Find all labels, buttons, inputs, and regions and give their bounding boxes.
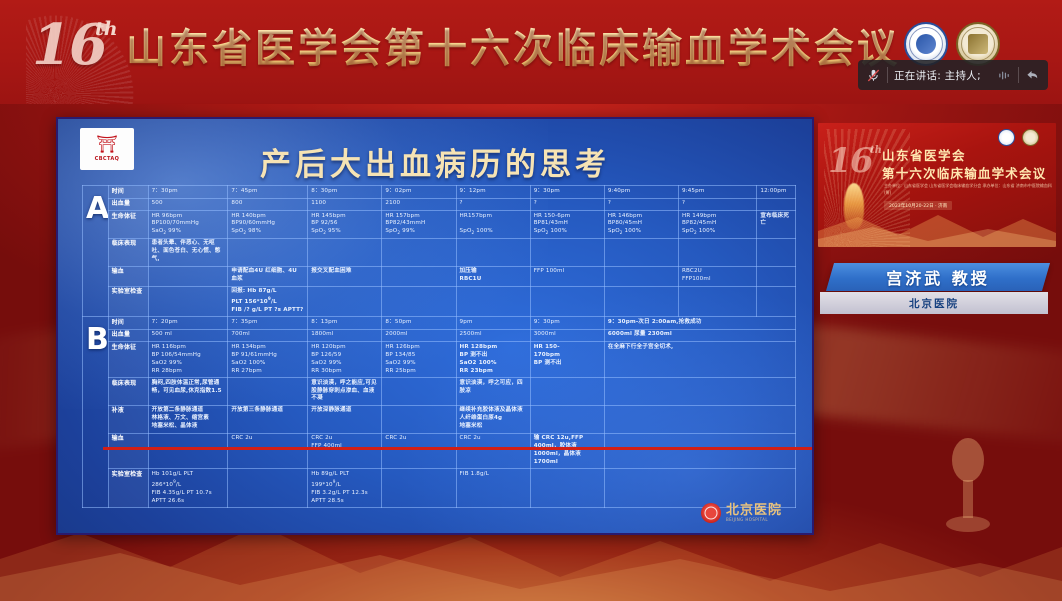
table-cell — [757, 266, 796, 286]
table-cell: 2500ml — [456, 329, 530, 342]
row-label: 输血 — [108, 433, 148, 469]
row-label: 实验室检查 — [108, 286, 148, 317]
table-cell: CRC 2u — [382, 433, 456, 469]
table-row: 实验室检查Hb 101g/L PLT 286*109/LFIB 4.35g/L … — [83, 469, 796, 508]
case-timeline-table-wrapper: A时间7：30pm7：45pm8：30pm9：02pm9：12pm9：30pm9… — [82, 185, 796, 525]
table-cell: HR 146bpmBP80/45mHSpO2 100% — [604, 211, 678, 239]
poster-edition-suffix: th — [870, 145, 882, 156]
speaker-organization: 北京医院 — [820, 292, 1048, 314]
table-row: 实验室检查回报: Hb 87g/LPLT 156*109/LFIB /? g/L… — [83, 286, 796, 317]
row-label: 输血 — [108, 266, 148, 286]
table-cell: 意识淡漠，呼之可应，四肢凉 — [456, 378, 530, 406]
table-cell — [604, 469, 795, 508]
table-cell: 胸闷,四肢体温正常,尿管通畅，可见血尿,休克指数1.5 — [148, 378, 228, 406]
table-cell: HR 126bpmBP 134/85SaO2 99%RR 25bpm — [382, 342, 456, 378]
row-label: 时间 — [108, 317, 148, 330]
poster-title-line1: 山东省医学会 — [882, 145, 966, 164]
table-cell: 500 ml — [148, 329, 228, 342]
pill-divider-2 — [1018, 67, 1019, 83]
table-cell: 宣布临床死亡 — [757, 211, 796, 239]
sound-wave-icon — [997, 69, 1012, 82]
trophy-decoration — [938, 430, 998, 545]
table-cell: 9:45pm — [678, 186, 756, 199]
table-cell — [382, 469, 456, 508]
presentation-slide[interactable]: ⛩ CBCTAQ 产后大出血病历的思考 A时间7：30pm7：45pm8：30p… — [56, 117, 814, 535]
table-cell: Hb 101g/L PLT 286*109/LFIB 4.35g/L PT 10… — [148, 469, 228, 508]
speaking-status-text: 正在讲话: 主持人; — [894, 68, 991, 83]
table-cell: 8：50pm — [382, 317, 456, 330]
table-cell: 申请配血4U 红细胞、4U 血浆 — [228, 266, 308, 286]
table-cell — [757, 286, 796, 317]
table-cell: FIB 1.8g/L — [456, 469, 530, 508]
table-cell: 开放第三条静脉通道 — [228, 405, 308, 433]
conference-title: 山东省医学会第十六次临床输血学术会议 — [126, 16, 900, 74]
table-cell: HR 150-6pmBP81/43mHSpO2 100% — [530, 211, 604, 239]
table-cell: ? — [530, 198, 604, 211]
poster-emblem-left-icon — [998, 129, 1015, 146]
table-cell — [604, 405, 795, 433]
table-cell — [530, 405, 604, 433]
pill-divider-1 — [887, 67, 888, 83]
table-cell: RBC2UFFP100ml — [678, 266, 756, 286]
table-cell — [604, 378, 795, 406]
table-cell — [228, 469, 308, 508]
table-cell: HR157bpmSpO2 100% — [456, 211, 530, 239]
active-speaker-status-bar[interactable]: 正在讲话: 主持人; — [858, 60, 1048, 90]
row-label: 临床表现 — [108, 378, 148, 406]
table-cell: HR 128bpmBP 测不出SaO2 100%RR 23bpm — [456, 342, 530, 378]
table-row: 出血量500 ml700ml1800ml2000ml2500ml3000ml60… — [83, 329, 796, 342]
section-label-a: A — [83, 186, 109, 317]
table-cell: 6000ml 尿量 2300ml — [604, 329, 795, 342]
poster-meta-text: 主办单位：山东省医学会 山东省医学会临床输血学分会 承办单位：山东省 济南市中医… — [884, 183, 1056, 197]
table-row: A时间7：30pm7：45pm8：30pm9：02pm9：12pm9：30pm9… — [83, 186, 796, 199]
slide-footer-en: BEIJING HOSPITAL — [726, 518, 782, 522]
edition-suffix: th — [95, 18, 118, 40]
table-cell — [678, 238, 756, 266]
table-cell — [604, 238, 678, 266]
table-cell: 7：35pm — [228, 317, 308, 330]
table-cell: 在全麻下行全子宫全切术, — [604, 342, 795, 378]
table-cell: HR 145bpmBP 92/56SpO2 95% — [308, 211, 382, 239]
slide-footer-cn: 北京医院 — [726, 504, 782, 518]
table-cell: 1800ml — [308, 329, 382, 342]
row-label: 补液 — [108, 405, 148, 433]
row-label: 生命体征 — [108, 342, 148, 378]
table-cell: HR 134bpmBP 91/61mmHgSaO2 100%RR 27bpm — [228, 342, 308, 378]
conference-stage-background: 16 th 山东省医学会第十六次临床输血学术会议 正在讲话: 主持人; — [0, 0, 1062, 601]
table-row: 生命体征HR 96bpmBP100/70mmHgSaO2 99%HR 140bp… — [83, 211, 796, 239]
table-cell — [678, 286, 756, 317]
table-cell: 回报: Hb 87g/LPLT 156*109/LFIB /? g/L PT ?… — [228, 286, 308, 317]
table-cell — [604, 286, 678, 317]
table-cell: 继续补充胶体液及晶体液人纤维蛋白原4g地塞米松 — [456, 405, 530, 433]
slide-title: 产后大出血病历的思考 — [58, 139, 812, 184]
table-cell: 开放第二条静脉通道林格液、万文、缩宫素地塞米松、晶体液 — [148, 405, 228, 433]
table-row: 临床表现患者头晕、伴恶心、无呕吐、面色苍白、无心慌、憋气, — [83, 238, 796, 266]
table-cell — [228, 238, 308, 266]
table-cell: 3000ml — [530, 329, 604, 342]
poster-edition-number: 16 — [828, 141, 872, 181]
table-cell — [148, 286, 228, 317]
table-cell: HR 120bpmBP 126/59SaO2 99%RR 30bpm — [308, 342, 382, 378]
table-cell — [148, 266, 228, 286]
poster-emblem-right-icon — [1022, 129, 1039, 146]
table-cell: 7：45pm — [228, 186, 308, 199]
table-cell: 9：30pm — [530, 186, 604, 199]
table-cell: 9：02pm — [382, 186, 456, 199]
speaker-name-banner: 宫济武 教授 — [826, 263, 1050, 291]
table-cell — [382, 405, 456, 433]
poster-mountain-silhouette — [818, 201, 1056, 247]
table-row: 补液开放第二条静脉通道林格液、万文、缩宫素地塞米松、晶体液开放第三条静脉通道开放… — [83, 405, 796, 433]
table-cell: 意识淡漠，呼之能应,可见股静脉穿刺点渗血、血液不凝 — [308, 378, 382, 406]
table-cell: HR 157bpmBP82/43mmHSpO2 99% — [382, 211, 456, 239]
table-cell: HR 116bpmBP 106/54mmHgSaO2 99%RR 28bpm — [148, 342, 228, 378]
table-cell: 患者头晕、伴恶心、无呕吐、面色苍白、无心慌、憋气, — [148, 238, 228, 266]
table-cell — [456, 286, 530, 317]
screen-share-icon[interactable] — [1025, 69, 1040, 82]
table-cell: 800 — [228, 198, 308, 211]
table-cell — [382, 266, 456, 286]
table-cell: 12:00pm — [757, 186, 796, 199]
section-label-b: B — [83, 317, 109, 508]
table-cell: 700ml — [228, 329, 308, 342]
table-cell: 8：13pm — [308, 317, 382, 330]
row-label: 生命体征 — [108, 211, 148, 239]
table-cell — [530, 238, 604, 266]
table-cell — [757, 238, 796, 266]
table-row: 输血CRC 2uCRC 2uFFP 400mlCRC 2uCRC 2u输 CRC… — [83, 433, 796, 469]
table-cell: FFP 100ml — [530, 266, 604, 286]
table-cell: HR 150-170bpmBP 测不出 — [530, 342, 604, 378]
table-cell — [308, 286, 382, 317]
table-cell — [382, 378, 456, 406]
table-cell — [530, 378, 604, 406]
table-cell — [530, 469, 604, 508]
table-cell — [530, 286, 604, 317]
table-cell: 9:40pm — [604, 186, 678, 199]
table-cell: HR 140bpmBP90/60mmHgSpO2 98% — [228, 211, 308, 239]
table-cell: 7：20pm — [148, 317, 228, 330]
table-cell: 9pm — [456, 317, 530, 330]
table-cell — [757, 198, 796, 211]
beijing-hospital-logo-icon — [701, 503, 721, 523]
speaker-name: 宫济武 教授 — [830, 263, 1046, 291]
table-cell — [604, 266, 678, 286]
red-annotation-line — [103, 447, 814, 450]
table-row: 生命体征HR 116bpmBP 106/54mmHgSaO2 99%RR 28b… — [83, 342, 796, 378]
table-cell: CRC 2u — [228, 433, 308, 469]
case-timeline-table: A时间7：30pm7：45pm8：30pm9：02pm9：12pm9：30pm9… — [82, 185, 796, 508]
table-cell: 2100 — [382, 198, 456, 211]
table-cell: Hb 89g/L PLT 199*109/LFIB 3.2g/L PT 12.3… — [308, 469, 382, 508]
table-cell: 7：30pm — [148, 186, 228, 199]
table-row: B时间7：20pm7：35pm8：13pm8：50pm9pm9：30pm9：30… — [83, 317, 796, 330]
table-cell: 报交叉配血困难 — [308, 266, 382, 286]
table-cell: 1100 — [308, 198, 382, 211]
table-cell: HR 149bpmBP82/45mHSpO2 100% — [678, 211, 756, 239]
table-cell — [456, 238, 530, 266]
table-cell: ? — [678, 198, 756, 211]
table-cell: ? — [456, 198, 530, 211]
table-cell: 9：30pm — [530, 317, 604, 330]
table-cell: HR 96bpmBP100/70mmHgSaO2 99% — [148, 211, 228, 239]
row-label: 临床表现 — [108, 238, 148, 266]
table-cell — [148, 433, 228, 469]
table-cell: 加压输RBC1U — [456, 266, 530, 286]
poster-title-line2: 第十六次临床输血学术会议 — [882, 163, 1046, 182]
table-row: 输血申请配血4U 红细胞、4U 血浆报交叉配血困难加压输RBC1UFFP 100… — [83, 266, 796, 286]
row-label: 出血量 — [108, 198, 148, 211]
table-cell — [308, 238, 382, 266]
table-cell: 9：30pm-次日 2:00am,抢救成功 — [604, 317, 795, 330]
table-row: 出血量50080011002100???? — [83, 198, 796, 211]
table-cell: ? — [604, 198, 678, 211]
table-cell — [228, 378, 308, 406]
table-cell: 开放深静脉通道 — [308, 405, 382, 433]
table-cell: CRC 2uFFP 400ml — [308, 433, 382, 469]
row-label: 出血量 — [108, 329, 148, 342]
conference-side-poster: 16 th 山东省医学会 第十六次临床输血学术会议 主办单位：山东省医学会 山东… — [818, 123, 1056, 247]
table-cell — [382, 238, 456, 266]
table-cell — [604, 433, 795, 469]
table-cell: 8：30pm — [308, 186, 382, 199]
row-label: 时间 — [108, 186, 148, 199]
row-label: 实验室检查 — [108, 469, 148, 508]
table-cell: 9：12pm — [456, 186, 530, 199]
table-cell: 500 — [148, 198, 228, 211]
mic-muted-icon[interactable] — [866, 68, 881, 83]
table-cell: CRC 2u — [456, 433, 530, 469]
slide-footer-logo: 北京医院 BEIJING HOSPITAL — [701, 503, 782, 523]
table-cell: 2000ml — [382, 329, 456, 342]
table-cell: 输 CRC 12u,FFP 400ml，胶体液 1000ml，晶体液 1700m… — [530, 433, 604, 469]
table-row: 临床表现胸闷,四肢体温正常,尿管通畅，可见血尿,休克指数1.5意识淡漠，呼之能应… — [83, 378, 796, 406]
table-cell — [382, 286, 456, 317]
